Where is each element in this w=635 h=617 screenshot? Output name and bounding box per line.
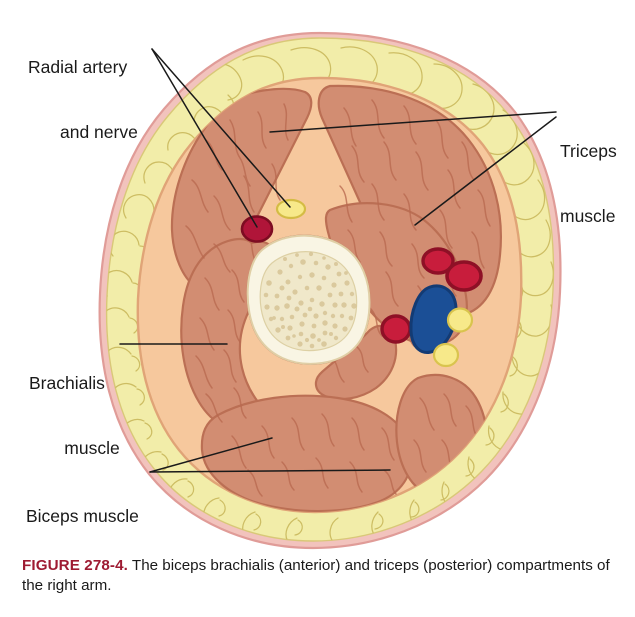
- figure-caption: FIGURE 278-4. The biceps brachialis (ant…: [22, 556, 622, 596]
- label-brachialis-line2: muscle: [29, 438, 155, 460]
- humerus-bone: [248, 236, 370, 364]
- label-radial-line2: and nerve: [28, 122, 138, 144]
- label-radial-line1: Radial artery: [28, 57, 138, 79]
- brachial-artery-3: [382, 316, 410, 342]
- label-biceps-line1: Biceps muscle: [26, 506, 139, 528]
- figure-page: Radial artery and nerve Triceps muscle B…: [0, 0, 635, 617]
- figure-number: FIGURE 278-4.: [22, 557, 128, 574]
- label-triceps-line1: Triceps: [560, 141, 617, 163]
- label-triceps-line2: muscle: [560, 206, 617, 228]
- label-triceps-muscle: Triceps muscle: [560, 98, 617, 272]
- nerve-2: [434, 344, 458, 366]
- radial-nerve: [277, 200, 305, 218]
- label-brachialis-line1: Brachialis: [29, 373, 155, 395]
- bone-marrow: [260, 252, 356, 351]
- radial-artery: [242, 217, 272, 242]
- nerve-1: [448, 309, 472, 332]
- brachial-artery-2: [447, 262, 481, 290]
- label-radial-artery-and-nerve: Radial artery and nerve: [28, 14, 138, 188]
